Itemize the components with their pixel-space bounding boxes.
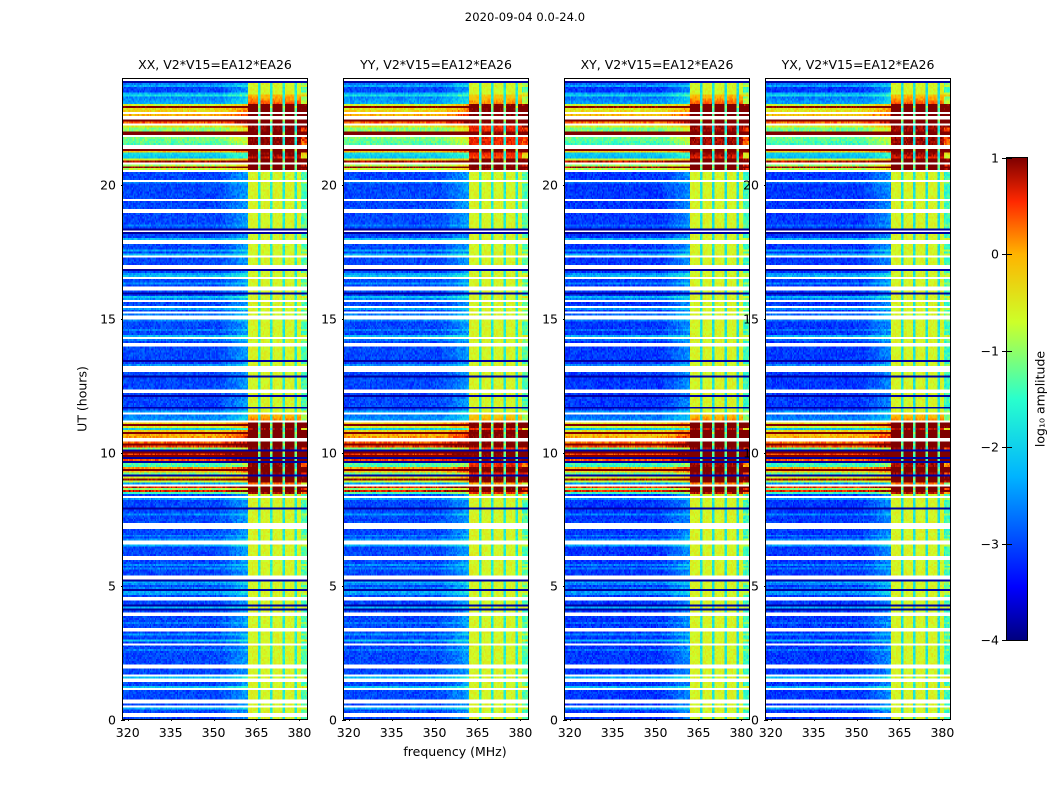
y-tick-label: 0 [108, 713, 116, 728]
y-tick-label: 10 [542, 445, 558, 460]
x-tick-label: 320 [337, 725, 361, 740]
x-tick-label: 350 [845, 725, 869, 740]
colorbar-tick-inner [1007, 351, 1012, 352]
y-tick [563, 720, 567, 721]
x-tick-label: 335 [601, 725, 625, 740]
spectrum-raster [344, 79, 528, 719]
figure-canvas: 2020-09-04 0.0-24.0 XX, V2*V15=EA12*EA26… [0, 0, 1050, 800]
y-tick-label: 20 [100, 178, 116, 193]
colorbar-tick-label: 1 [991, 151, 999, 166]
heatmap-axes-xx[interactable] [122, 78, 308, 720]
x-tick-label: 365 [888, 725, 912, 740]
spectrum-raster [123, 79, 307, 719]
x-tick-label: 365 [245, 725, 269, 740]
panel-title: XY, V2*V15=EA12*EA26 [581, 57, 734, 72]
x-tick-label: 335 [380, 725, 404, 740]
y-tick [764, 720, 768, 721]
x-tick-label: 380 [930, 725, 954, 740]
colorbar-tick-label: −2 [981, 440, 999, 455]
panel-title: XX, V2*V15=EA12*EA26 [138, 57, 292, 72]
x-tick-label: 350 [644, 725, 668, 740]
panel-xx: XX, V2*V15=EA12*EA2632033535036538005101… [122, 78, 308, 720]
y-tick-label: 0 [329, 713, 337, 728]
heatmap-axes-yx[interactable] [765, 78, 951, 720]
y-tick-label: 15 [542, 311, 558, 326]
colorbar-gradient [1007, 158, 1027, 640]
colorbar-tick-inner [1007, 447, 1012, 448]
heatmap-axes-yy[interactable] [343, 78, 529, 720]
y-tick-label: 10 [743, 445, 759, 460]
figure-suptitle: 2020-09-04 0.0-24.0 [0, 10, 1050, 24]
colorbar-tick-inner [1007, 544, 1012, 545]
panel-xy: XY, V2*V15=EA12*EA2632033535036538005101… [564, 78, 750, 720]
x-tick-label: 350 [423, 725, 447, 740]
x-tick-label: 380 [508, 725, 532, 740]
y-tick-label: 15 [100, 311, 116, 326]
x-tick-label: 380 [287, 725, 311, 740]
panel-title: YX, V2*V15=EA12*EA26 [782, 57, 935, 72]
x-tick-label: 320 [558, 725, 582, 740]
x-tick-label: 320 [759, 725, 783, 740]
y-tick-label: 15 [321, 311, 337, 326]
x-axis-label: frequency (MHz) [0, 744, 910, 759]
y-tick-label: 15 [743, 311, 759, 326]
y-tick-label: 10 [100, 445, 116, 460]
x-tick-label: 350 [202, 725, 226, 740]
x-tick-label: 365 [687, 725, 711, 740]
spectrum-raster [565, 79, 749, 719]
x-tick-label: 335 [802, 725, 826, 740]
y-tick-label: 5 [550, 579, 558, 594]
colorbar-tick-label: 0 [991, 247, 999, 262]
y-tick-label: 0 [751, 713, 759, 728]
panel-title: YY, V2*V15=EA12*EA26 [360, 57, 512, 72]
heatmap-axes-xy[interactable] [564, 78, 750, 720]
x-tick-label: 380 [729, 725, 753, 740]
y-tick [121, 720, 125, 721]
x-tick-label: 320 [116, 725, 140, 740]
y-tick-label: 20 [321, 178, 337, 193]
y-tick-label: 10 [321, 445, 337, 460]
colorbar-tick-inner [1007, 254, 1012, 255]
colorbar-tick-label: −4 [981, 633, 999, 648]
y-tick-label: 20 [743, 178, 759, 193]
colorbar-label: log₁₀ amplitude [1033, 351, 1048, 447]
colorbar-tick-label: −3 [981, 536, 999, 551]
spectrum-raster [766, 79, 950, 719]
y-tick-label: 5 [329, 579, 337, 594]
y-tick-label: 5 [108, 579, 116, 594]
y-tick-label: 5 [751, 579, 759, 594]
x-tick-label: 335 [159, 725, 183, 740]
colorbar-tick-inner [1007, 640, 1012, 641]
panel-yx: YX, V2*V15=EA12*EA2632033535036538005101… [765, 78, 951, 720]
y-tick-label: 20 [542, 178, 558, 193]
x-tick-label: 365 [466, 725, 490, 740]
colorbar-tick-label: −1 [981, 343, 999, 358]
colorbar-tick-inner [1007, 158, 1012, 159]
panel-yy: YY, V2*V15=EA12*EA2632033535036538005101… [343, 78, 529, 720]
y-tick-label: 0 [550, 713, 558, 728]
y-axis-label: UT (hours) [75, 366, 90, 432]
y-tick [342, 720, 346, 721]
colorbar: −4−3−2−101 [1006, 157, 1028, 641]
